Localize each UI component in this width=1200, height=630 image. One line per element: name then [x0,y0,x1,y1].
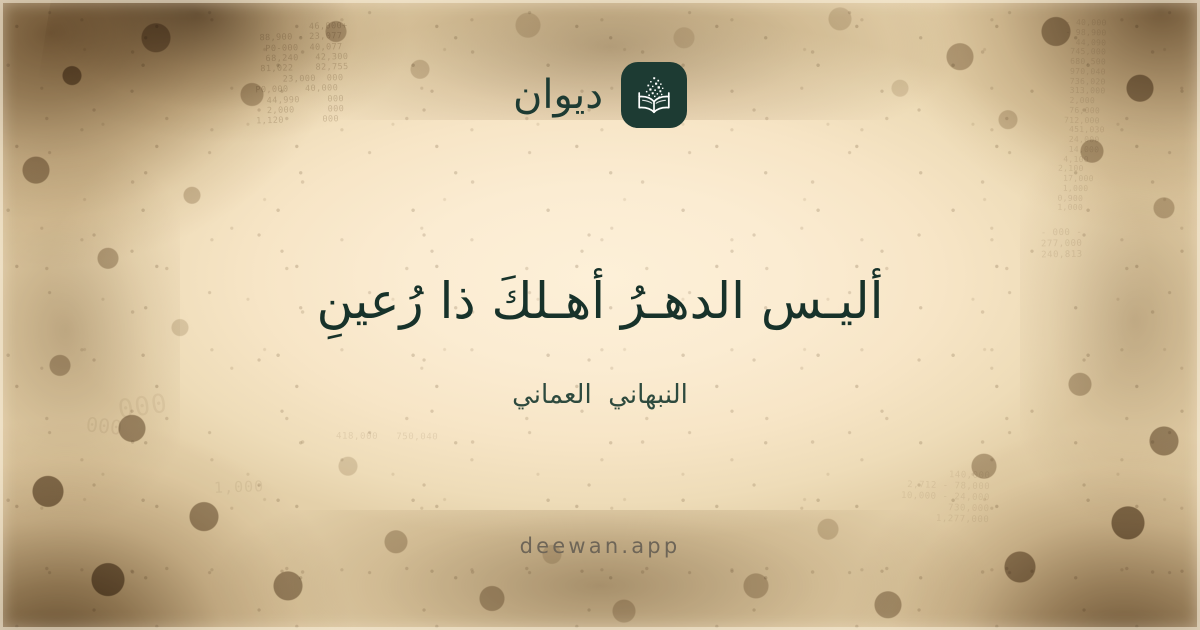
quote-card: +46,000 23,077 - 88,900 40,077 P0-000 42… [0,0,1200,630]
deewan-logo-mark[interactable] [621,62,687,128]
open-book-with-sparkles-icon [631,72,677,118]
footer-container: deewan.app [0,534,1200,558]
brand-wordmark: ديوان [513,75,603,115]
poem-verse: أليـس الدهـرُ أهـلكَ ذا رُعينِ [316,268,883,336]
card-content: ديوان أليـس الدهـرُ أهـلكَ ذا رُعينِ الن… [0,0,1200,630]
attribution-container: النبهاني العماني [0,380,1200,410]
site-url[interactable]: deewan.app [520,534,681,558]
brand-lockup[interactable]: ديوان [513,62,687,128]
poet-attribution: النبهاني العماني [512,380,688,410]
verse-container: أليـس الدهـرُ أهـلكَ ذا رُعينِ [0,268,1200,336]
